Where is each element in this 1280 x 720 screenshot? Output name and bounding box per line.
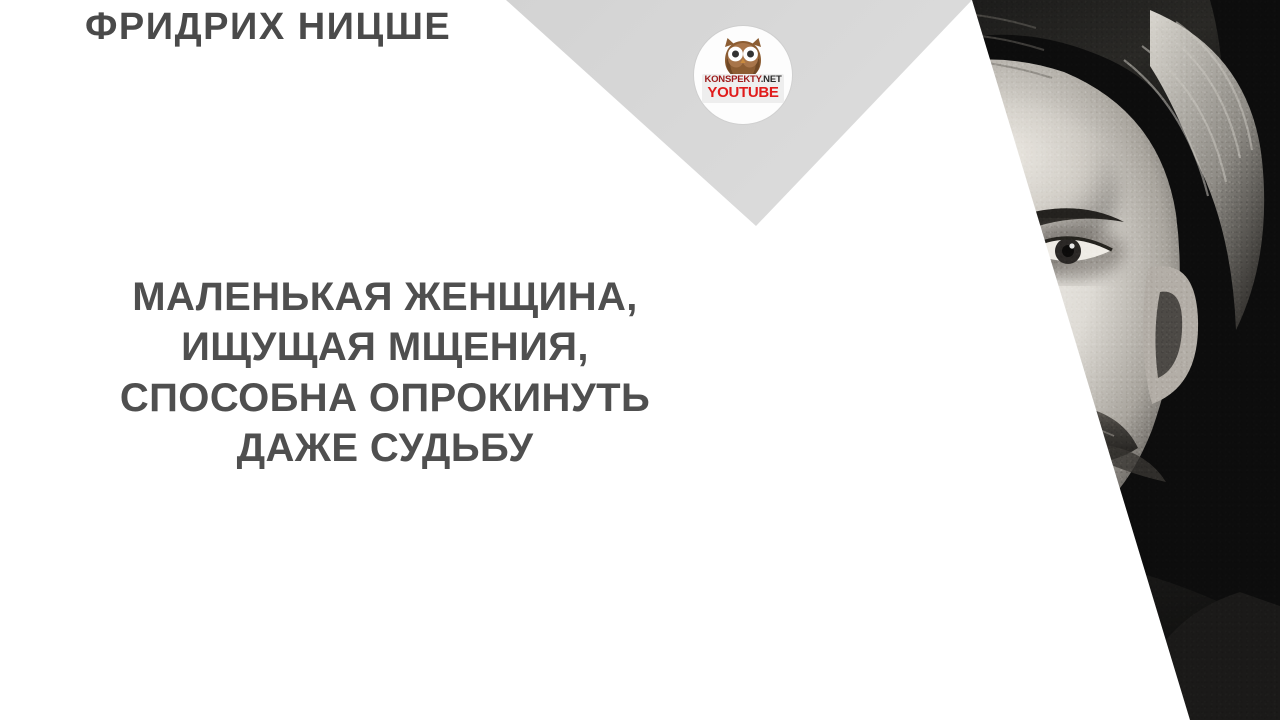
quote-line-4: ДАЖЕ СУДЬБУ xyxy=(40,423,730,473)
quote-line-3: СПОСОБНА ОПРОКИНУТЬ xyxy=(40,373,730,423)
quote-card: ФРИДРИХ НИЦШЕ МАЛЕНЬКАЯ ЖЕНЩИНА, ИЩУЩАЯ … xyxy=(0,0,1280,720)
quote-text: МАЛЕНЬКАЯ ЖЕНЩИНА, ИЩУЩАЯ МЩЕНИЯ, СПОСОБ… xyxy=(40,272,730,474)
quote-line-2: ИЩУЩАЯ МЩЕНИЯ, xyxy=(40,322,730,372)
channel-logo[interactable]: KONSPEKTY.NET YOUTUBE xyxy=(694,26,792,124)
logo-text-plate: KONSPEKTY.NET YOUTUBE xyxy=(702,74,784,103)
quote-line-1: МАЛЕНЬКАЯ ЖЕНЩИНА, xyxy=(40,272,730,322)
page-title: ФРИДРИХ НИЦШЕ xyxy=(85,6,451,49)
logo-platform-name: YOUTUBE xyxy=(702,85,784,101)
